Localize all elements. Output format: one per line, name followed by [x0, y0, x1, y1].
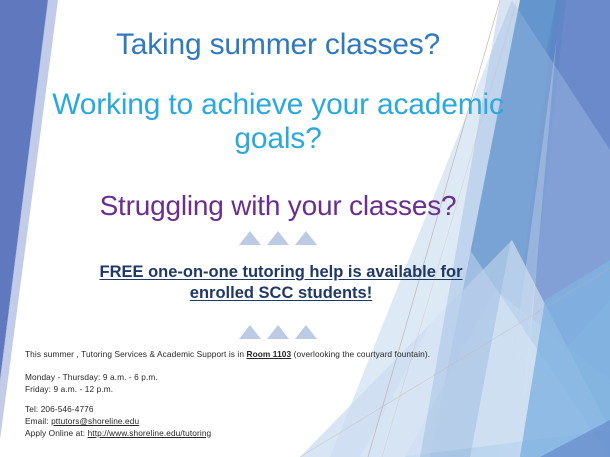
office-hours: Monday - Thursday: 9 a.m. - 6 p.m. Frida…: [25, 372, 325, 396]
triangle-bullet-icon: [267, 325, 289, 339]
headline-working-to-achieve-goals: Working to achieve your academic goals?: [52, 88, 504, 155]
apply-label: Apply Online at:: [25, 428, 88, 438]
triangle-bullet-icon: [239, 325, 261, 339]
triangle-divider-top: [52, 231, 504, 245]
triangle-bullet-icon: [295, 325, 317, 339]
location-prefix: This summer , Tutoring Services & Academ…: [25, 349, 247, 359]
triangle-bullet-icon: [267, 231, 289, 245]
hours-friday: Friday: 9 a.m. - 12 p.m.: [25, 384, 113, 394]
slide-content: Taking summer classes? Working to achiev…: [0, 0, 610, 457]
hours-weekday: Monday - Thursday: 9 a.m. - 6 p.m.: [25, 372, 158, 382]
room-number: Room 1103: [247, 349, 292, 359]
headline-taking-summer-classes: Taking summer classes?: [52, 28, 504, 62]
triangle-divider-bottom: [52, 325, 504, 339]
presentation-slide: Taking summer classes? Working to achiev…: [0, 0, 610, 457]
location-suffix: (overlooking the courtyard fountain).: [291, 349, 430, 359]
location-statement: This summer , Tutoring Services & Academ…: [25, 349, 485, 361]
callout-free-tutoring: FREE one-on-one tutoring help is availab…: [36, 262, 526, 304]
triangle-bullet-icon: [295, 231, 317, 245]
telephone-line: Tel: 206-546-4776: [25, 404, 94, 414]
callout-line-1: FREE one-on-one tutoring help is availab…: [99, 263, 462, 281]
callout-line-2: enrolled SCC students!: [190, 284, 372, 302]
email-label: Email:: [25, 416, 51, 426]
apply-online-link[interactable]: http://www.shoreline.edu/tutoring: [88, 428, 212, 438]
triangle-bullet-icon: [239, 231, 261, 245]
headline-struggling-with-classes: Struggling with your classes?: [52, 190, 504, 221]
email-link[interactable]: pttutors@shoreline.edu: [51, 416, 139, 426]
contact-block: Tel: 206-546-4776 Email: pttutors@shorel…: [25, 404, 325, 439]
